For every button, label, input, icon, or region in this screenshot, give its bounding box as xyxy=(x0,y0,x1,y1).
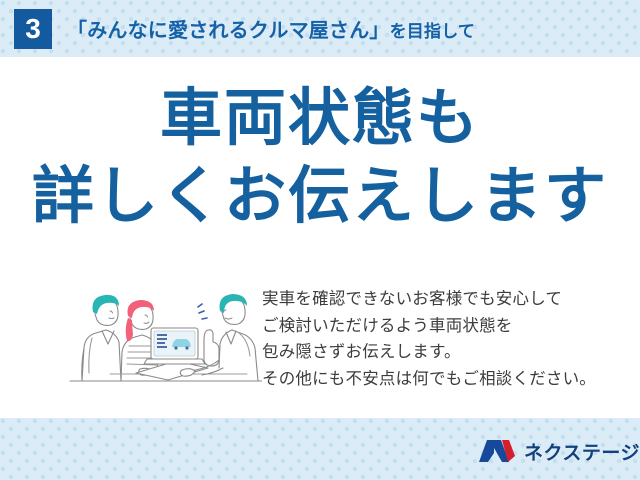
headline-line-2: 詳しくお伝えします xyxy=(0,166,640,228)
header-title-suffix: を目指して xyxy=(390,22,476,41)
brand-logo: ネクステージ xyxy=(478,436,640,466)
nextage-n-mark-icon xyxy=(478,438,516,464)
headline-line-1: 車両状態も xyxy=(0,88,640,150)
header: 3 「みんなに愛されるクルマ屋さん」を目指して xyxy=(0,0,640,57)
step-number-badge: 3 xyxy=(14,9,52,49)
header-title-main: 「みんなに愛されるクルマ屋さん」 xyxy=(67,20,390,42)
header-title: 「みんなに愛されるクルマ屋さん」を目指して xyxy=(67,14,475,43)
body-copy-line-3: 包み隠さずお伝えします。 xyxy=(262,339,612,366)
body-copy-line-1: 実車を確認できないお客様でも安心して xyxy=(262,286,612,313)
headline: 車両状態も 詳しくお伝えします xyxy=(0,88,640,228)
body-copy: 実車を確認できないお客様でも安心して ご検討いただけるよう車両状態を 包み隠さず… xyxy=(262,286,612,393)
consultation-illustration-svg xyxy=(62,278,262,390)
step-number-label: 3 xyxy=(25,15,41,43)
body-copy-line-2: ご検討いただけるよう車両状態を xyxy=(262,313,612,340)
body-copy-line-4: その他にも不安点は何でもご相談ください。 xyxy=(262,366,612,393)
brand-name: ネクステージ xyxy=(524,438,640,465)
promo-banner: 3 「みんなに愛されるクルマ屋さん」を目指して 車両状態も 詳しくお伝えします xyxy=(0,0,640,480)
consultation-illustration xyxy=(62,278,262,390)
